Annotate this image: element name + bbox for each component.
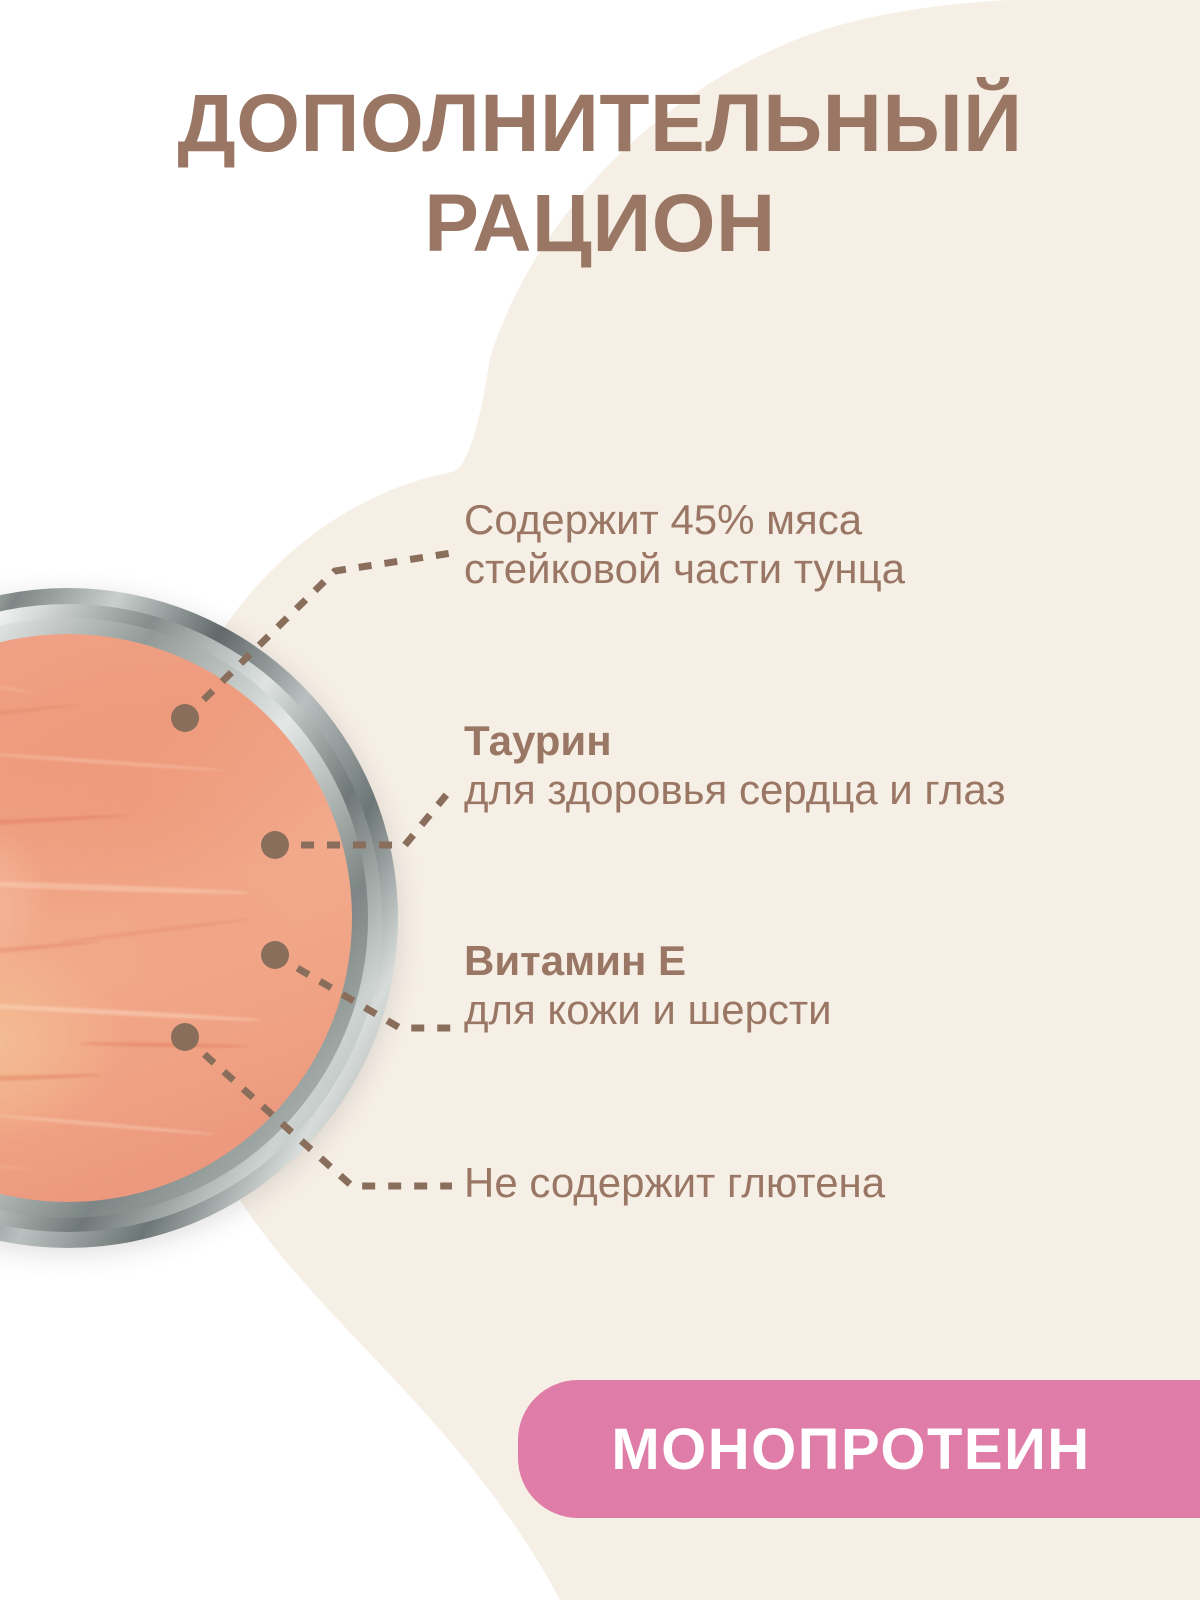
- product-can-image: [0, 588, 398, 1248]
- feature-vitamin-e: Витамин Е для кожи и шерсти: [464, 936, 832, 1034]
- monoprotein-banner: МОНОПРОТЕИН: [518, 1380, 1200, 1518]
- page-title-line-1: ДОПОЛНИТЕЛЬНЫЙ: [0, 74, 1200, 174]
- feature-gluten-free: Не содержит глютена: [464, 1158, 885, 1207]
- infographic-canvas: ДОПОЛНИТЕЛЬНЫЙ РАЦИОН Содержит 45% мяса …: [0, 0, 1200, 1600]
- page-title: ДОПОЛНИТЕЛЬНЫЙ РАЦИОН: [0, 74, 1200, 274]
- monoprotein-banner-label: МОНОПРОТЕИН: [611, 1416, 1106, 1483]
- feature-taurine-line-1: для здоровья сердца и глаз: [464, 765, 1005, 814]
- page-title-line-2: РАЦИОН: [0, 174, 1200, 274]
- feature-taurine-heading: Таурин: [464, 716, 1005, 765]
- feature-gluten-free-line-1: Не содержит глютена: [464, 1158, 885, 1207]
- feature-taurine: Таурин для здоровья сердца и глаз: [464, 716, 1005, 814]
- feature-meat-content-line-2: стейковой части тунца: [464, 544, 905, 593]
- feature-vitamin-e-heading: Витамин Е: [464, 936, 832, 985]
- feature-vitamin-e-line-1: для кожи и шерсти: [464, 985, 832, 1034]
- feature-meat-content-line-1: Содержит 45% мяса: [464, 495, 905, 544]
- feature-meat-content: Содержит 45% мяса стейковой части тунца: [464, 495, 905, 593]
